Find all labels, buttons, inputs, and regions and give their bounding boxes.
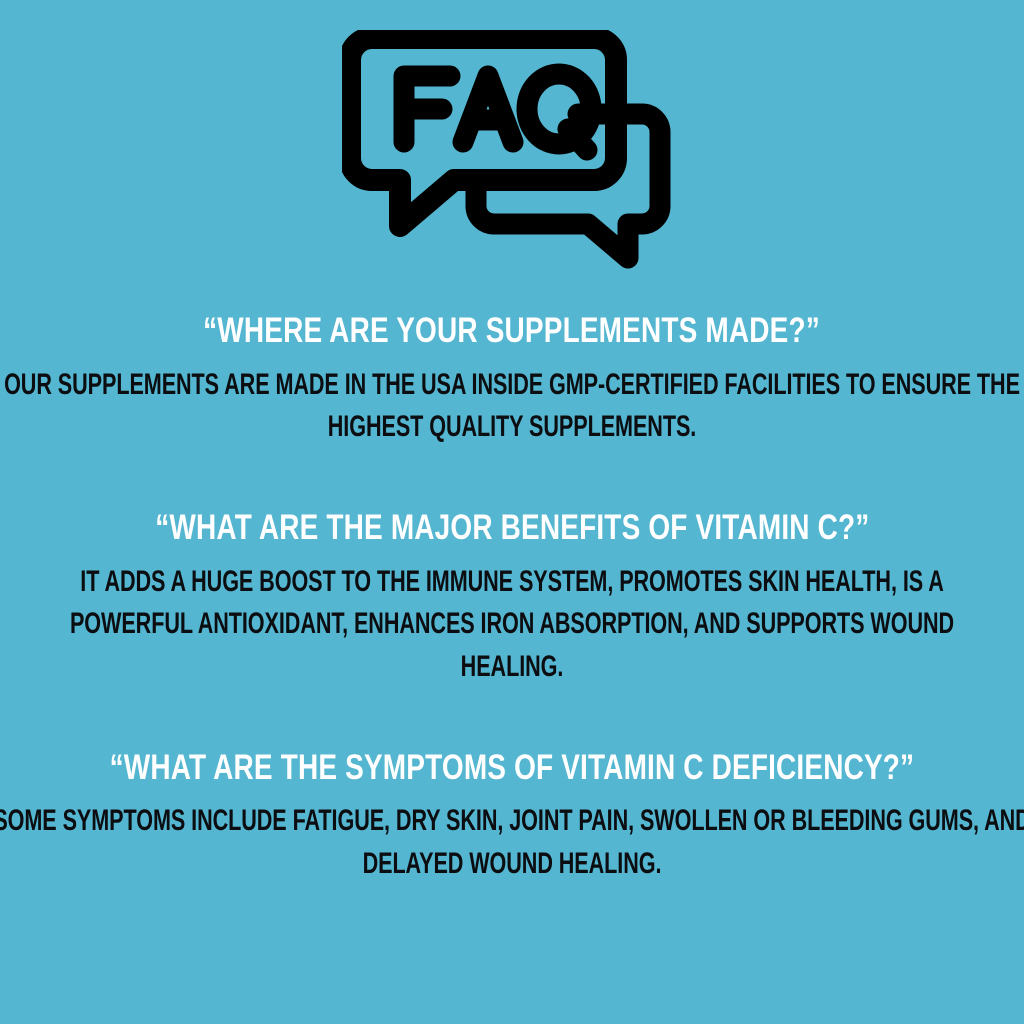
- faq-item: “WHAT ARE THE SYMPTOMS OF VITAMIN C DEFI…: [0, 749, 1024, 886]
- faq-question: “WHAT ARE THE SYMPTOMS OF VITAMIN C DEFI…: [110, 749, 915, 787]
- faq-list: “WHERE ARE YOUR SUPPLEMENTS MADE?” OUR S…: [0, 306, 1024, 886]
- faq-item: “WHAT ARE THE MAJOR BENEFITS OF VITAMIN …: [0, 509, 1024, 689]
- faq-answer: SOME SYMPTOMS INCLUDE FATIGUE, DRY SKIN,…: [0, 800, 1024, 885]
- faq-speech-bubbles-icon: [342, 30, 682, 286]
- faq-question: “WHERE ARE YOUR SUPPLEMENTS MADE?”: [204, 312, 821, 350]
- faq-question: “WHAT ARE THE MAJOR BENEFITS OF VITAMIN …: [155, 509, 869, 547]
- faq-poster: “WHERE ARE YOUR SUPPLEMENTS MADE?” OUR S…: [0, 0, 1024, 1024]
- faq-item: “WHERE ARE YOUR SUPPLEMENTS MADE?” OUR S…: [0, 312, 1024, 449]
- faq-answer: OUR SUPPLEMENTS ARE MADE IN THE USA INSI…: [1, 364, 1023, 449]
- faq-answer: IT ADDS A HUGE BOOST TO THE IMMUNE SYSTE…: [66, 561, 959, 689]
